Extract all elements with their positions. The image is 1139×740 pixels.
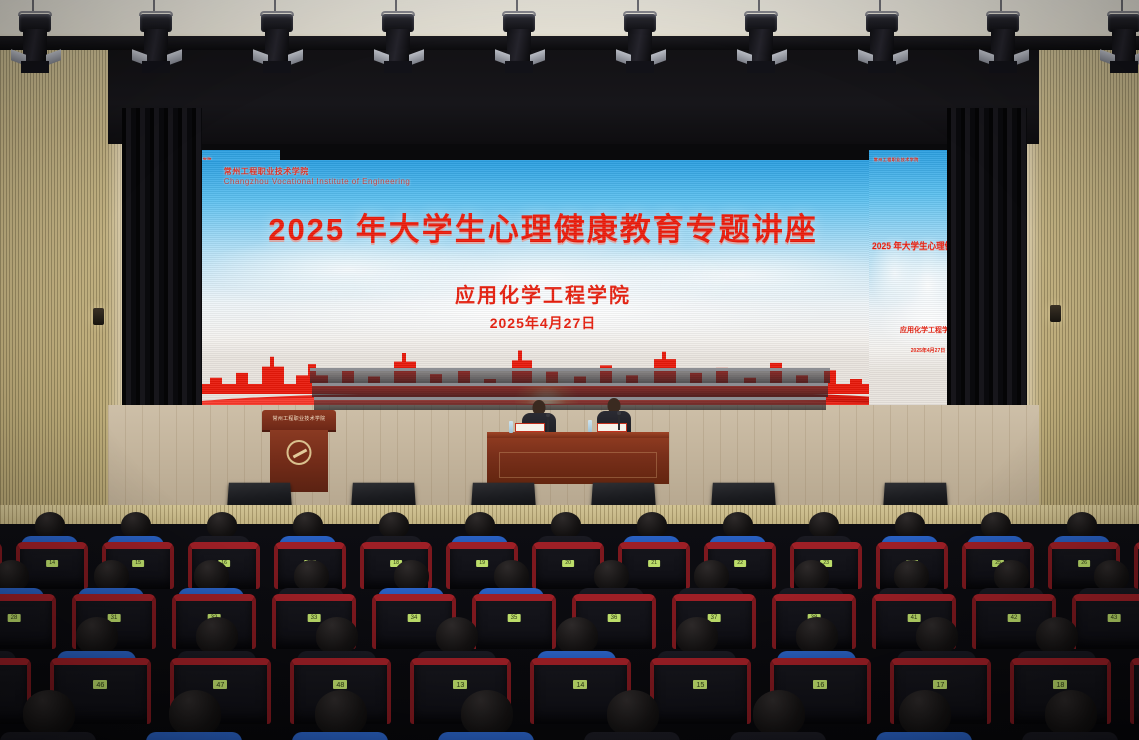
audience-member-head <box>35 512 65 538</box>
audience-member-head <box>394 560 429 591</box>
audience-member-torso <box>146 732 242 740</box>
audience-seat-row: 202122232425262728 <box>0 714 1139 740</box>
seat-number-tag: 17 <box>933 680 947 689</box>
riser-row <box>314 397 826 410</box>
audience-member-head <box>1067 512 1097 538</box>
podium: 常州工程职业技术学院 <box>262 410 336 492</box>
water-bottle-left <box>509 421 513 433</box>
stage-spotlight-icon <box>1103 0 1139 78</box>
audience-member-head <box>723 512 753 538</box>
audience-member-head <box>994 560 1029 591</box>
seat-number-tag: 14 <box>573 680 587 689</box>
audience-member-head <box>169 690 221 736</box>
seat-number-tag: 18 <box>1053 680 1067 689</box>
table-panel <box>499 452 657 478</box>
audience-member-head <box>676 617 718 654</box>
audience-member-head <box>379 512 409 538</box>
stage-spotlight-icon <box>377 0 421 78</box>
name-card <box>515 423 545 432</box>
seat-number-tag: 26 <box>1078 560 1090 567</box>
audience-member-head <box>1045 690 1097 736</box>
stage-spotlight-icon <box>256 0 300 78</box>
audience-member-head <box>316 617 358 654</box>
screen-logo-right: 常州工程职业技术学院 <box>874 158 919 163</box>
audience-member-head <box>637 512 667 538</box>
audience-member-head <box>551 512 581 538</box>
wall-light-icon-right <box>1050 305 1061 322</box>
audience-member-head <box>436 617 478 654</box>
audience-member-head <box>607 690 659 736</box>
audience-member-head <box>23 690 75 736</box>
seat-number-tag: 19 <box>476 560 488 567</box>
audience-member-head <box>899 690 951 736</box>
audience-member-head <box>293 512 323 538</box>
audience-member-head <box>315 690 367 736</box>
stage-spotlight-icon <box>740 0 784 78</box>
audience-member-head <box>494 560 529 591</box>
riser-row <box>312 383 828 397</box>
seat-number-tag: 15 <box>132 560 144 567</box>
audience-member-head <box>981 512 1011 538</box>
audience-member-torso <box>0 732 96 740</box>
audience-member-head <box>916 617 958 654</box>
audience-member-head <box>1036 617 1078 654</box>
seat-number-tag: 13 <box>453 680 467 689</box>
choir-risers <box>310 368 830 410</box>
seat-number-tag: 48 <box>333 680 347 689</box>
screen-logo-main: 常州工程职业技术学院 Changzhou Vocational Institut… <box>224 167 411 185</box>
seat-number-tag: 36 <box>608 614 621 622</box>
audience-member-head <box>809 512 839 538</box>
seat-number-tag: 41 <box>908 614 921 622</box>
screen-title-main: 2025 年大学生心理健康教育专题讲座 <box>196 204 890 249</box>
seat-number-tag: 16 <box>813 680 827 689</box>
stage-spotlight-icon <box>14 0 58 78</box>
podium-label: 常州工程职业技术学院 <box>262 415 336 422</box>
audience-area: 1314151617181920212223242526272831323334… <box>0 524 1139 740</box>
screen-logo-text: 常州工程职业技术学院 <box>224 167 309 176</box>
screen-logo-subtext: Changzhou Vocational Institute of Engine… <box>224 177 411 186</box>
seat-number-tag: 34 <box>408 614 421 622</box>
audience-member-head <box>556 617 598 654</box>
stage-spotlight-icon <box>619 0 663 78</box>
wall-light-icon-left <box>93 308 104 325</box>
audience-member-head <box>1094 560 1129 591</box>
seat-number-tag: 14 <box>46 560 58 567</box>
stage-spotlight-icon <box>982 0 1026 78</box>
audience-member-head <box>894 560 929 591</box>
screen-org-main: 应用化学工程学院 <box>196 279 890 308</box>
audience-member-head <box>796 617 838 654</box>
audience-member-head <box>76 617 118 654</box>
university-crest-icon <box>287 440 312 465</box>
audience-member-torso <box>730 732 826 740</box>
seat-number-tag: 35 <box>508 614 521 622</box>
audience-member-torso <box>292 732 388 740</box>
audience-member-head <box>94 560 129 591</box>
audience-member-head <box>594 560 629 591</box>
seat-number-tag: 46 <box>93 680 107 689</box>
head-table <box>487 432 669 484</box>
audience-member-head <box>194 560 229 591</box>
seat-number-tag: 42 <box>1008 614 1021 622</box>
auditorium-scene: 常州工程职业技术学院 2025 年大学生心理健康教育专题讲座 应用化学工程学院 … <box>0 0 1139 740</box>
screen-date-main: 2025年4月27日 <box>196 313 890 333</box>
audience-seat-row: 131415161718192021222324252627 <box>0 526 1139 578</box>
stage-spotlight-icon <box>498 0 542 78</box>
audience-seat-row: 4546474813141516171819 <box>0 636 1139 708</box>
audience-member-head <box>121 512 151 538</box>
audience-member-head <box>465 512 495 538</box>
seat-number-tag: 33 <box>308 614 321 622</box>
audience-member-torso <box>1022 732 1118 740</box>
stage-spotlight-icon <box>135 0 179 78</box>
audience-member-head <box>895 512 925 538</box>
seat-number-tag: 15 <box>693 680 707 689</box>
microphone-icon-right <box>618 414 620 430</box>
seat-number-tag: 20 <box>562 560 574 567</box>
audience-member-head <box>461 690 513 736</box>
seat-number-tag: 43 <box>1108 614 1121 622</box>
stage-spotlight-icon <box>861 0 905 78</box>
audience-member-head <box>753 690 805 736</box>
audience-member-head <box>294 560 329 591</box>
audience-member-head <box>207 512 237 538</box>
audience-member-torso <box>584 732 680 740</box>
audience-member-head <box>794 560 829 591</box>
podium-top: 常州工程职业技术学院 <box>262 410 336 432</box>
seat-number-tag: 47 <box>213 680 227 689</box>
seat-number-tag: 22 <box>734 560 746 567</box>
seat-number-tag: 21 <box>648 560 660 567</box>
audience-member-head <box>694 560 729 591</box>
audience-member-torso <box>876 732 972 740</box>
riser-row <box>310 368 830 383</box>
audience-member-head <box>196 617 238 654</box>
name-card <box>597 423 627 432</box>
audience-member-head <box>0 560 29 591</box>
audience-member-torso <box>438 732 534 740</box>
seat-number-tag: 28 <box>8 614 21 622</box>
screen-logo-text: 常州工程职业技术学院 <box>874 157 919 162</box>
water-bottle-right <box>588 420 592 432</box>
microphone-icon-left <box>547 416 549 432</box>
table-front <box>487 438 669 484</box>
